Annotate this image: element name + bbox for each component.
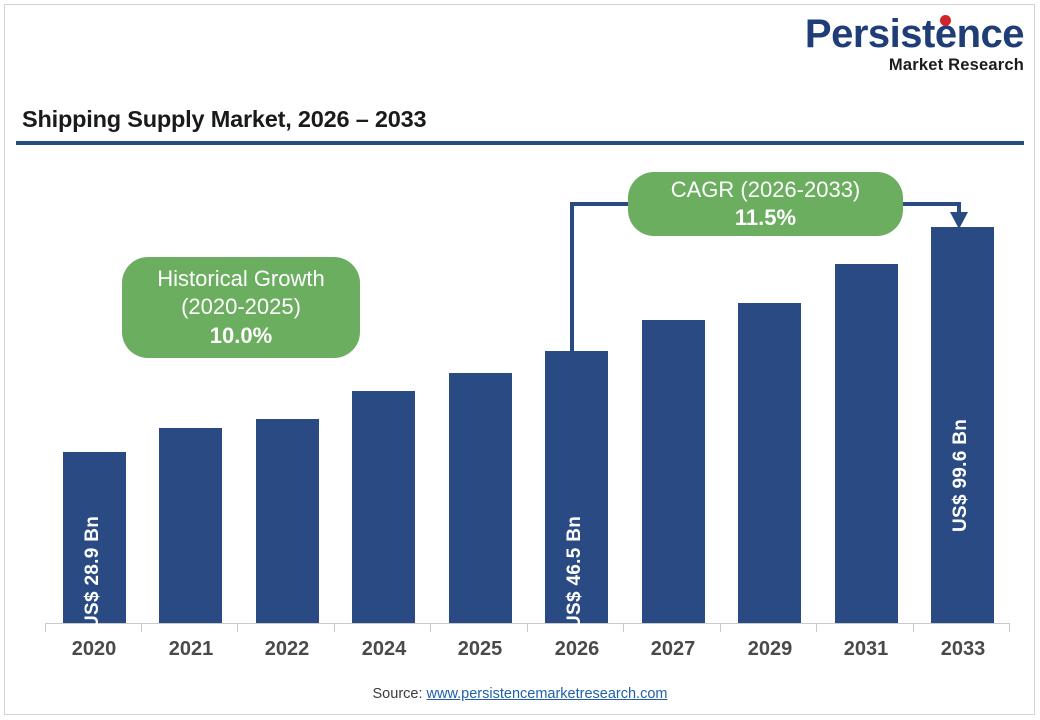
- source-link[interactable]: www.persistencemarketresearch.com: [427, 686, 668, 702]
- x-axis-label-2025: 2025: [432, 638, 528, 661]
- axis-tick: [527, 623, 528, 632]
- bar-value-label-2033: US$ 99.6 Bn: [950, 419, 972, 532]
- bar-2025[interactable]: [449, 373, 512, 623]
- callout-cagr: CAGR (2026-2033) 11.5%: [628, 172, 903, 236]
- axis-tick: [430, 623, 431, 632]
- plot-area: US$ 28.9 Bn US$ 46.5 Bn US$ 99.6 Bn 2020…: [0, 0, 1040, 720]
- x-axis-label-2029: 2029: [722, 638, 818, 661]
- callout-cagr-line1: CAGR (2026-2033): [671, 176, 861, 204]
- callout-historical-line2: (2020-2025): [181, 293, 301, 321]
- axis-tick: [237, 623, 238, 632]
- callout-cagr-value: 11.5%: [735, 204, 796, 232]
- bar-value-label-2020: US$ 28.9 Bn: [82, 516, 104, 629]
- x-axis-label-2033: 2033: [915, 638, 1011, 661]
- source-label: Source:: [373, 686, 423, 702]
- x-axis-label-2022: 2022: [239, 638, 335, 661]
- bar-value-label-2026: US$ 46.5 Bn: [564, 516, 586, 629]
- source-line: Source: www.persistencemarketresearch.co…: [0, 686, 1040, 702]
- callout-historical-value: 10.0%: [210, 322, 272, 350]
- bar-2027[interactable]: [642, 320, 705, 623]
- x-axis-label-2024: 2024: [336, 638, 432, 661]
- x-axis-label-2026: 2026: [529, 638, 625, 661]
- bar-2021[interactable]: [159, 428, 222, 623]
- bar-2022[interactable]: [256, 419, 319, 623]
- x-axis-label-2031: 2031: [818, 638, 914, 661]
- axis-tick: [720, 623, 721, 632]
- axis-tick: [1009, 623, 1010, 632]
- axis-tick: [913, 623, 914, 632]
- chart-canvas: Persistence Market Research Shipping Sup…: [0, 0, 1040, 720]
- axis-tick: [141, 623, 142, 632]
- axis-tick: [623, 623, 624, 632]
- callout-historical-line1: Historical Growth: [157, 265, 324, 293]
- x-axis-label-2020: 2020: [46, 638, 142, 661]
- axis-tick: [45, 623, 46, 632]
- callout-historical-growth: Historical Growth (2020-2025) 10.0%: [122, 257, 360, 358]
- bar-2031[interactable]: [835, 264, 898, 623]
- x-axis-label-2021: 2021: [143, 638, 239, 661]
- axis-tick: [334, 623, 335, 632]
- bar-2029[interactable]: [738, 303, 801, 623]
- x-axis-label-2027: 2027: [625, 638, 721, 661]
- axis-tick: [816, 623, 817, 632]
- bar-2024[interactable]: [352, 391, 415, 623]
